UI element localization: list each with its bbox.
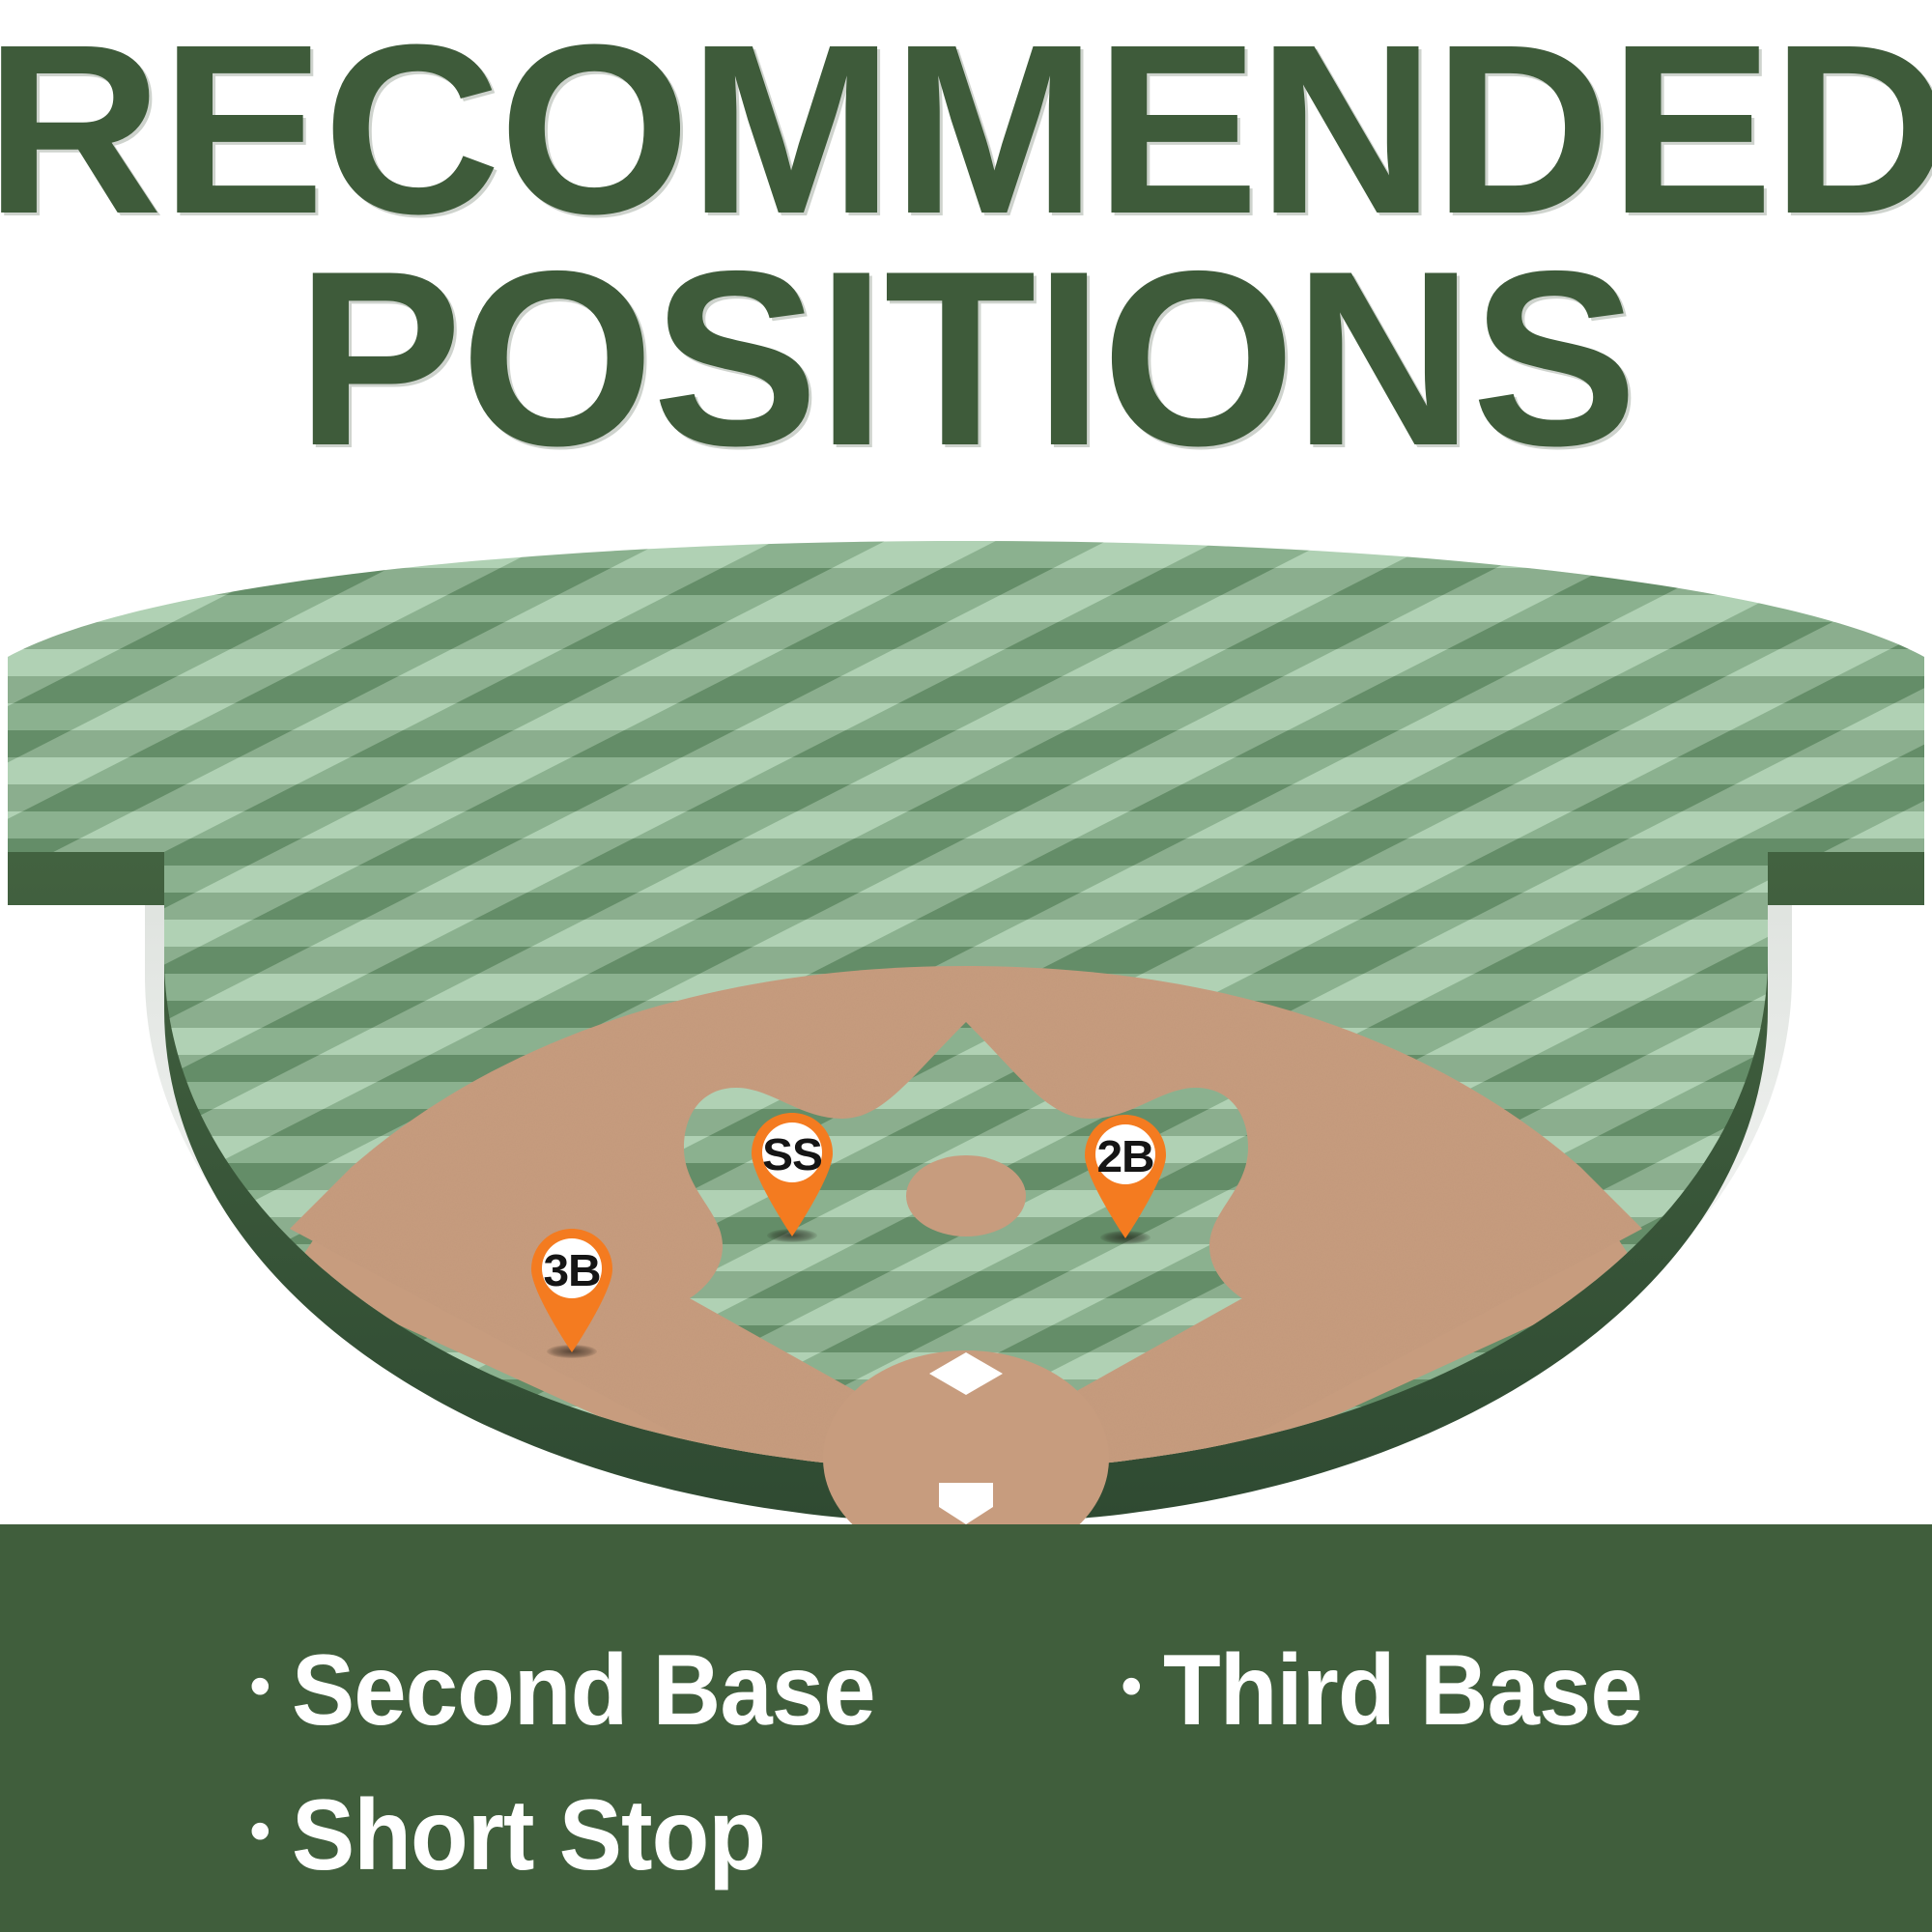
marker-label-3b: 3B (524, 1235, 620, 1306)
page-title: RECOMMENDED POSITIONS (0, 17, 1932, 473)
positions-list-bar: • Second Base • Third Base • Short Stop (0, 1524, 1932, 1932)
field-illustration (0, 541, 1932, 1526)
list-item-label: Second Base (292, 1638, 875, 1744)
title-line-recommended: RECOMMENDED (0, 17, 1932, 242)
baseball-field-diagram: SS 2B 3B (0, 541, 1932, 1526)
marker-label-2b: 2B (1077, 1121, 1174, 1192)
pitchers-mound (906, 1155, 1026, 1236)
list-item-short-stop: • Short Stop (249, 1783, 796, 1889)
bullet-icon: • (249, 1658, 271, 1715)
title-line-positions: POSITIONS (0, 242, 1932, 474)
list-item-third-base: • Third Base (1121, 1638, 1673, 1744)
list-item-second-base: • Second Base (249, 1638, 913, 1744)
list-item-label: Short Stop (292, 1783, 765, 1889)
positions-list: • Second Base • Third Base • Short Stop (0, 1524, 1932, 1932)
marker-label-ss: SS (744, 1119, 840, 1190)
list-item-label: Third Base (1163, 1638, 1642, 1744)
bullet-icon: • (1121, 1658, 1143, 1715)
bullet-icon: • (249, 1803, 271, 1860)
